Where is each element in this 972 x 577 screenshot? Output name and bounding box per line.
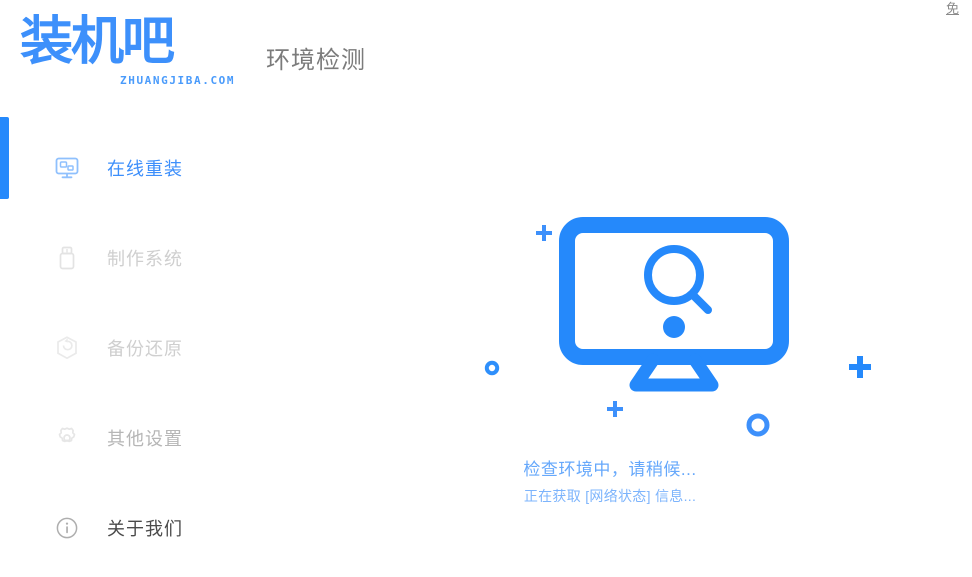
plus-decoration-icon	[848, 355, 872, 379]
sidebar-item-about-us[interactable]: 关于我们	[0, 505, 248, 551]
sidebar-item-label: 在线重装	[107, 155, 183, 181]
logo-wordmark: 装机吧	[20, 14, 173, 70]
monitor-reinstall-icon	[53, 154, 81, 182]
info-circle-icon	[53, 514, 81, 542]
app-header: 装机吧 ZHUANGJIBA.COM 环境检测 免	[0, 0, 972, 112]
sidebar-item-other-settings[interactable]: 其他设置	[0, 415, 248, 461]
plus-decoration-icon	[535, 224, 553, 242]
brand-logo: 装机吧 ZHUANGJIBA.COM	[18, 14, 236, 92]
plus-decoration-icon	[606, 400, 624, 418]
status-primary-text: 检查环境中，请稍候...	[248, 455, 972, 480]
gear-icon	[53, 424, 81, 452]
sidebar-item-label: 制作系统	[107, 245, 183, 271]
sidebar-item-backup-restore[interactable]: 备份还原	[0, 325, 248, 371]
large-ring-decoration-icon	[745, 412, 771, 438]
sidebar-item-label: 其他设置	[107, 425, 183, 451]
sidebar-item-label: 备份还原	[107, 335, 183, 361]
backup-restore-icon	[53, 334, 81, 362]
disclaimer-link[interactable]: 免	[946, 0, 972, 17]
environment-check-illustration: 检查环境中，请稍候... 正在获取 [网络状态] 信息...	[248, 112, 972, 577]
status-secondary-text: 正在获取 [网络状态] 信息...	[248, 486, 972, 506]
monitor-magnifier-icon	[558, 217, 790, 397]
sidebar-item-create-system[interactable]: 制作系统	[0, 235, 248, 281]
small-ring-decoration-icon	[484, 360, 500, 376]
sidebar-nav: 在线重装 制作系统 备份还原	[0, 112, 248, 577]
sidebar-item-online-reinstall[interactable]: 在线重装	[0, 145, 248, 191]
page-title: 环境检测	[266, 40, 366, 75]
logo-domain-text: ZHUANGJIBA.COM	[120, 74, 235, 87]
usb-drive-icon	[53, 244, 81, 272]
sidebar-item-label: 关于我们	[107, 515, 183, 541]
main-content: 检查环境中，请稍候... 正在获取 [网络状态] 信息...	[248, 112, 972, 577]
